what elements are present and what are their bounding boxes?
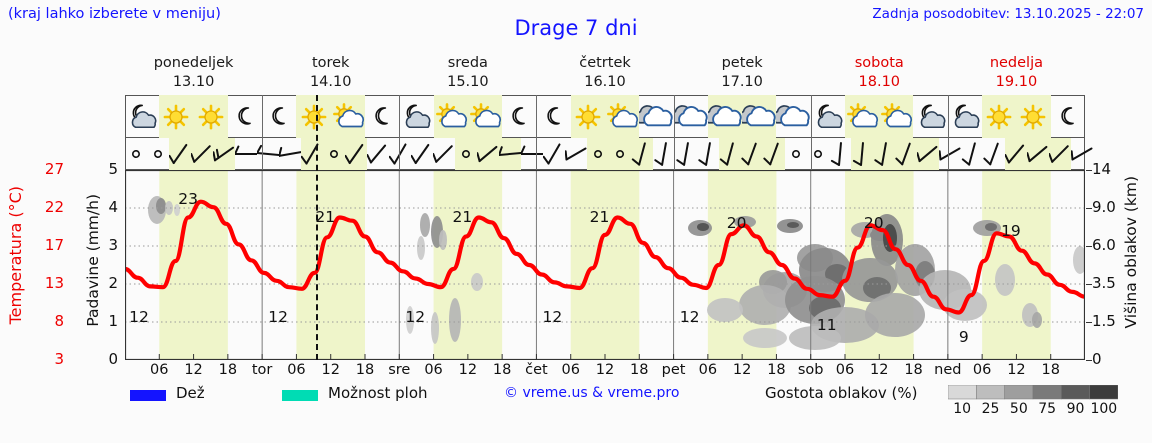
wind-barb (829, 138, 851, 170)
temperature-tick: 22 (20, 198, 64, 216)
copyright-text[interactable]: © vreme.us & vreme.pro (504, 385, 679, 401)
day-date: 17.10 (674, 73, 811, 91)
temperature-tick: 3 (20, 350, 64, 368)
cloud-height-tick: 3.5 (1092, 274, 1132, 292)
day-header-4: petek17.10 (674, 54, 811, 94)
wind-barb (851, 138, 873, 170)
sun-icon (982, 95, 1016, 138)
day-name: torek (262, 54, 399, 72)
current-time-marker (316, 95, 318, 360)
wind-barb (169, 138, 191, 170)
wind-barb (719, 138, 741, 170)
day-header-3: četrtek16.10 (536, 54, 673, 94)
wind-barb (125, 138, 147, 170)
cloud-height-tickmark (1086, 322, 1092, 323)
day-separator (399, 138, 400, 170)
wind-barb (455, 138, 477, 170)
day-separator (948, 138, 949, 170)
day-header-5: sobota18.10 (811, 54, 948, 94)
day-header-1: torek14.10 (262, 54, 399, 94)
wind-barb (1049, 138, 1071, 170)
day-date: 19.10 (948, 73, 1085, 91)
temp-max-label: 20 (864, 214, 884, 232)
wind-barb (785, 138, 807, 170)
day-name: nedelja (948, 54, 1085, 72)
wind-barb (631, 138, 653, 170)
sun-cloud-icon (605, 95, 639, 138)
sun-icon (571, 95, 605, 138)
day-separator (399, 95, 400, 138)
cloud-height-tick: 14 (1092, 160, 1132, 178)
day-header-2: sreda15.10 (399, 54, 536, 94)
wind-barb (961, 138, 983, 170)
moon-half-icon (228, 95, 262, 138)
cloud-height-tick: 9.0 (1092, 198, 1132, 216)
x-axis-tick: 18 (1027, 362, 1075, 378)
temperature-tick: 13 (20, 274, 64, 292)
temp-max-label: 20 (727, 214, 747, 232)
sun-cloud-icon (845, 95, 879, 138)
temp-max-label: 19 (1001, 222, 1021, 240)
day-separator (262, 138, 263, 170)
wind-barb (895, 138, 917, 170)
wind-barb (939, 138, 961, 170)
day-separator (811, 138, 812, 170)
wind-barb (411, 138, 433, 170)
forecast-plot-svg: 23122112211221122012201119911 (125, 170, 1085, 360)
wind-barb (983, 138, 1005, 170)
moon-cloud-icon (948, 95, 982, 138)
wind-barb (257, 138, 279, 170)
forecast-plot: 23122112211221122012201119911 (125, 170, 1085, 360)
weather-icon-row (125, 95, 1085, 138)
wind-barb (741, 138, 763, 170)
wind-barb (675, 138, 697, 170)
wind-barb (587, 138, 609, 170)
rain-legend-label: Dež (176, 384, 205, 402)
wind-barb (543, 138, 565, 170)
cloud-height-tickmark (1086, 208, 1092, 209)
day-date: 13.10 (125, 73, 262, 91)
day-separator (262, 95, 263, 138)
wind-barb (147, 138, 169, 170)
cloud-density-scale-bar (948, 385, 1118, 401)
cloud-density-legend-label: Gostota oblakov (%) (765, 384, 918, 402)
temperature-tick: 27 (20, 160, 64, 178)
temp-min-label: 9 (959, 328, 969, 346)
day-separator (674, 95, 675, 138)
day-header-row: ponedeljek13.10torek14.10sreda15.10četrt… (125, 54, 1085, 94)
day-date: 15.10 (399, 73, 536, 91)
temp-min-label: 12 (405, 308, 425, 326)
cloud-density-tick: 100 (1082, 401, 1126, 417)
moon-icon (262, 95, 296, 138)
day-header-6: nedelja19.10 (948, 54, 1085, 94)
cloud-height-tickmark (1086, 360, 1092, 361)
wind-barb (763, 138, 785, 170)
temperature-tick: 8 (20, 312, 64, 330)
showers-color-swatch (282, 390, 318, 401)
day-name: petek (674, 54, 811, 72)
sun-cloud-icon (879, 95, 913, 138)
day-name: ponedeljek (125, 54, 262, 72)
temp-min-label: 11 (817, 316, 837, 334)
temp-max-label: 21 (590, 208, 610, 226)
wind-barb (1005, 138, 1027, 170)
wind-barb (521, 138, 543, 170)
temp-min-label: 12 (543, 308, 563, 326)
day-separator (811, 95, 812, 138)
wind-barb (565, 138, 587, 170)
cloud-icon (674, 95, 708, 138)
sun-icon (1016, 95, 1050, 138)
precipitation-tick: 4 (84, 198, 118, 216)
moon-icon (365, 95, 399, 138)
moon-icon (502, 95, 536, 138)
legend: Dež Možnost ploh © vreme.us & vreme.pro … (0, 382, 1152, 437)
day-separator (536, 95, 537, 138)
wind-barb (433, 138, 455, 170)
wind-barb (191, 138, 213, 170)
sun-icon (194, 95, 228, 138)
precipitation-tick: 3 (84, 236, 118, 254)
wind-barb (609, 138, 631, 170)
cloud-height-tickmark (1086, 246, 1092, 247)
wind-barb (235, 138, 257, 170)
cloud-height-tickmark (1086, 284, 1092, 285)
cloud-icon (639, 95, 673, 138)
cloud-icon (776, 95, 810, 138)
precipitation-tick: 2 (84, 274, 118, 292)
moon-cloud-icon (811, 95, 845, 138)
wind-barb (301, 138, 323, 170)
wind-barb (1027, 138, 1049, 170)
day-date: 18.10 (811, 73, 948, 91)
cloud-icon (708, 95, 742, 138)
day-header-0: ponedeljek13.10 (125, 54, 262, 94)
wind-barb (367, 138, 389, 170)
wind-barb (477, 138, 499, 170)
sun-cloud-icon (434, 95, 468, 138)
day-name: sobota (811, 54, 948, 72)
cloud-icon (742, 95, 776, 138)
cloud-height-tick: 0 (1092, 350, 1132, 368)
cloud-height-tick: 6.0 (1092, 236, 1132, 254)
temp-min-label: 12 (129, 308, 149, 326)
sun-icon (159, 95, 193, 138)
wind-barb (213, 138, 235, 170)
moon-icon (536, 95, 570, 138)
day-separator (536, 138, 537, 170)
wind-barb (697, 138, 719, 170)
precipitation-tick: 5 (84, 160, 118, 178)
cloud-height-tick: 1.5 (1092, 312, 1132, 330)
sun-icon (296, 95, 330, 138)
temp-max-label: 21 (453, 208, 473, 226)
showers-legend-label: Možnost ploh (328, 384, 428, 402)
rain-color-swatch (130, 390, 166, 401)
sun-cloud-icon (468, 95, 502, 138)
day-name: sreda (399, 54, 536, 72)
moon-cloud-icon (399, 95, 433, 138)
wind-barb (323, 138, 345, 170)
wind-barb (1071, 138, 1093, 170)
cloud-height-tickmark (1086, 170, 1092, 171)
page-title: Drage 7 dni (0, 16, 1152, 40)
temp-min-label: 12 (680, 308, 700, 326)
precipitation-tick: 1 (84, 312, 118, 330)
day-date: 16.10 (536, 73, 673, 91)
sun-cloud-icon (331, 95, 365, 138)
wind-barb (873, 138, 895, 170)
day-date: 14.10 (262, 73, 399, 91)
wind-barb (279, 138, 301, 170)
temperature-tick: 17 (20, 236, 64, 254)
wind-barb (345, 138, 367, 170)
temp-max-label: 23 (178, 190, 198, 208)
moon-icon (1051, 95, 1085, 138)
temp-min-label: 12 (268, 308, 288, 326)
precipitation-tick: 0 (84, 350, 118, 368)
day-separator (674, 138, 675, 170)
page-title-text: Drage 7 dni (514, 16, 637, 40)
wind-barb (499, 138, 521, 170)
wind-barb (653, 138, 675, 170)
day-separator (948, 95, 949, 138)
temp-max-label: 21 (315, 208, 335, 226)
day-name: četrtek (536, 54, 673, 72)
moon-cloud-icon (913, 95, 947, 138)
moon-cloud-icon (125, 95, 159, 138)
wind-barb-row (125, 138, 1085, 170)
wind-barb (917, 138, 939, 170)
